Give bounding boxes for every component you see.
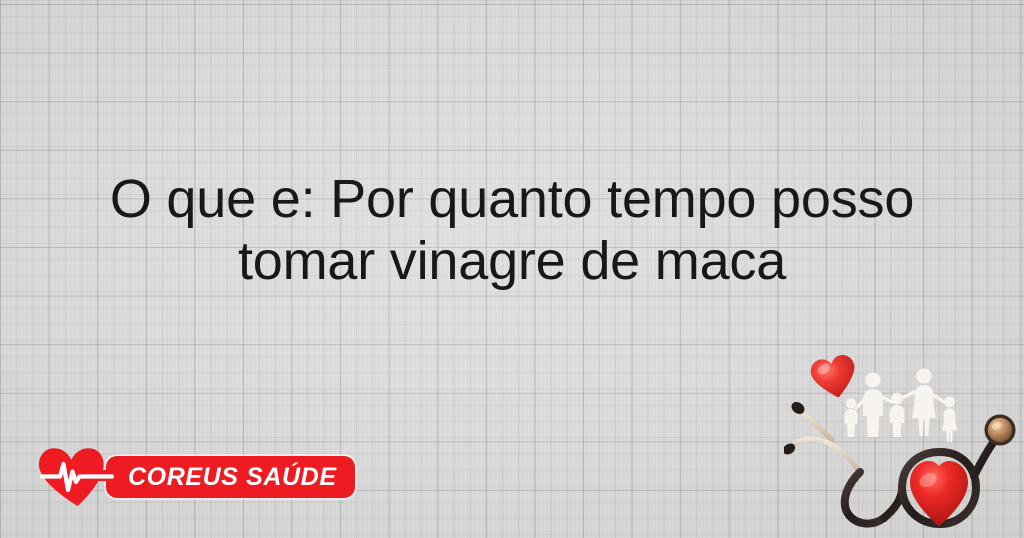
small-heart-icon	[809, 353, 861, 402]
heart-ecg-icon	[34, 446, 120, 508]
brand-logo[interactable]: COREUS SAÚDE	[34, 446, 355, 508]
brand-name-badge: COREUS SAÚDE	[106, 456, 355, 498]
video-thumbnail-card: O que e: Por quanto tempo posso tomar vi…	[0, 0, 1024, 538]
brand-name-label: COREUS SAÚDE	[128, 465, 337, 490]
family-silhouette-icon	[844, 368, 957, 442]
medical-health-illustration	[784, 348, 1024, 538]
stethoscope-chestpiece-icon	[985, 415, 1016, 446]
page-title: O que e: Por quanto tempo posso tomar vi…	[0, 168, 1024, 292]
